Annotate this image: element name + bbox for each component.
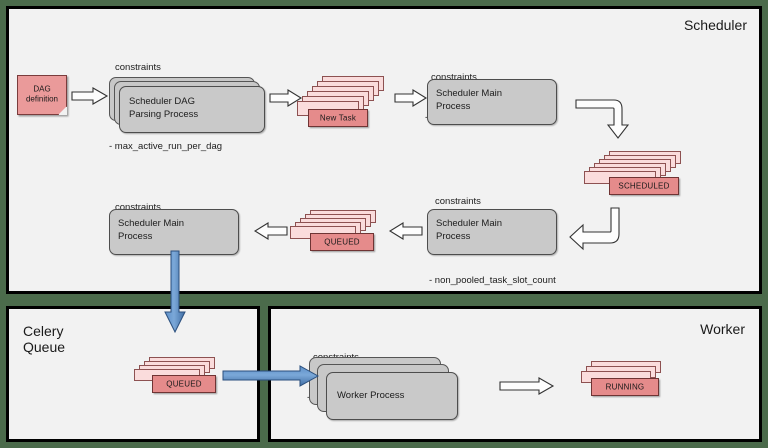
blue-arrow-queue-to-worker bbox=[222, 365, 320, 387]
arrow-scheduled-to-main2 bbox=[569, 207, 627, 251]
arrow-newtask-to-main1 bbox=[394, 89, 428, 107]
arrow-worker-to-running bbox=[499, 377, 555, 395]
constraints-concurrency-item-1: - non_pooled_task_slot_count bbox=[429, 274, 556, 287]
scheduled-badge: SCHEDULED bbox=[609, 177, 679, 195]
queued-task-stack-celery: QUEUED bbox=[129, 357, 229, 401]
worker-card-front: Worker Process bbox=[326, 372, 458, 420]
scheduler-main-process-1: Scheduler Main Process bbox=[427, 79, 557, 125]
queued-badge-scheduler: QUEUED bbox=[310, 233, 374, 251]
scheduler-main-process-2: Scheduler Main Process bbox=[427, 209, 557, 255]
scheduler-main-process-1-label: Scheduler Main Process bbox=[436, 87, 502, 113]
scheduled-task-stack: SCHEDULED bbox=[581, 151, 691, 199]
running-badge: RUNNING bbox=[591, 378, 659, 396]
scheduler-panel-title: Scheduler bbox=[684, 17, 747, 33]
process-card-front: Scheduler DAG Parsing Process bbox=[119, 86, 265, 133]
scheduler-main-process-2-label: Scheduler Main Process bbox=[436, 217, 502, 243]
new-task-badge: New Task bbox=[308, 109, 368, 127]
worker-panel: Worker constraints - worker_concurrency … bbox=[268, 306, 762, 442]
scheduler-main-process-3: Scheduler Main Process bbox=[109, 209, 239, 255]
dag-definition-note: DAG definition bbox=[17, 75, 67, 115]
constraints-concurrency-header: constraints bbox=[435, 195, 556, 208]
arrow-queued-to-main3 bbox=[254, 222, 288, 240]
constraints-parsing-header: constraints bbox=[115, 61, 222, 74]
queued-badge-celery: QUEUED bbox=[152, 375, 216, 393]
running-task-stack: RUNNING bbox=[577, 361, 677, 405]
dag-definition-label: DAG definition bbox=[18, 85, 66, 106]
arrow-dag-to-parser bbox=[71, 87, 109, 105]
celery-queue-panel-title: Celery Queue bbox=[23, 323, 65, 355]
queued-task-stack-scheduler: QUEUED bbox=[286, 210, 386, 258]
queued-badge-celery-label: QUEUED bbox=[153, 380, 215, 389]
arrow-main1-to-scheduled bbox=[575, 97, 635, 141]
note-fold-corner bbox=[58, 106, 67, 115]
new-task-badge-label: New Task bbox=[309, 114, 367, 123]
worker-process-label: Worker Process bbox=[337, 390, 404, 403]
worker-panel-title: Worker bbox=[700, 321, 745, 337]
scheduled-badge-label: SCHEDULED bbox=[610, 182, 678, 191]
new-task-stack: New Task bbox=[292, 76, 388, 132]
worker-process-stack: Worker Process bbox=[309, 357, 479, 433]
parsing-process-label: Scheduler DAG Parsing Process bbox=[129, 96, 198, 122]
scheduler-dag-parsing-process: Scheduler DAG Parsing Process bbox=[109, 77, 265, 135]
constraints-parsing-item-1: - max_active_run_per_dag bbox=[109, 140, 222, 153]
scheduler-panel: Scheduler DAG definition constraints - m… bbox=[6, 6, 762, 294]
blue-arrow-scheduler-to-queue bbox=[164, 250, 186, 334]
scheduler-main-process-3-label: Scheduler Main Process bbox=[118, 217, 184, 243]
queued-badge-scheduler-label: QUEUED bbox=[311, 238, 373, 247]
running-badge-label: RUNNING bbox=[592, 383, 658, 392]
arrow-main2-to-queued bbox=[389, 222, 423, 240]
